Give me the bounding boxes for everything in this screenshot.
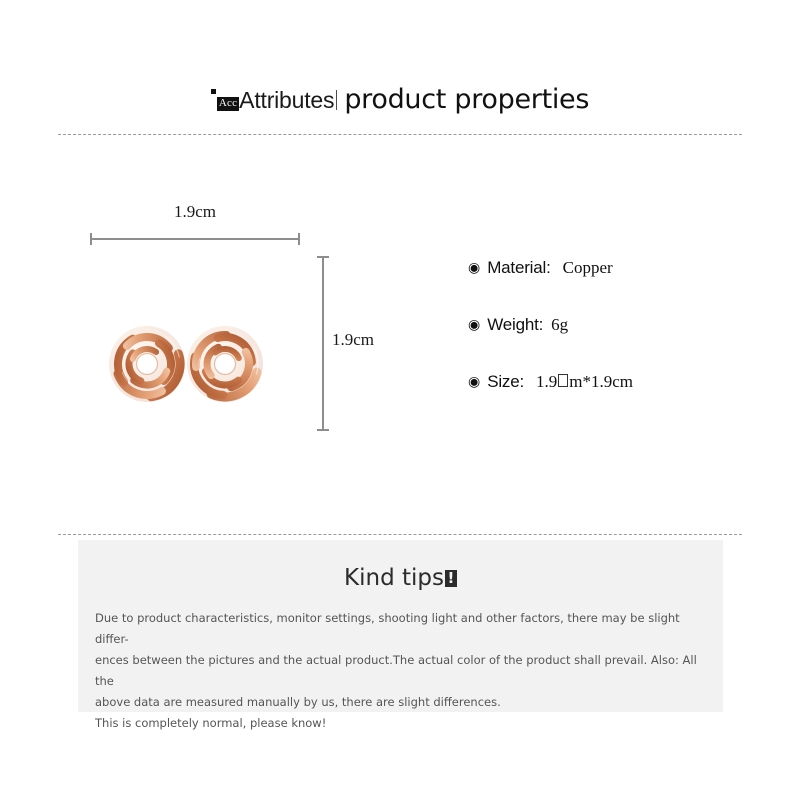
- page-title: product properties: [344, 86, 589, 113]
- dimension-width-label: 1.9cm: [90, 202, 300, 222]
- dimension-width-line: [90, 238, 300, 240]
- spec-label-weight: Weight:: [487, 315, 543, 335]
- dimension-height-line: [322, 256, 324, 431]
- spec-row-size: ◉ Size: 1.9m*1.9cm: [468, 372, 768, 429]
- spec-value-size: 1.9m*1.9cm: [536, 372, 633, 392]
- bullet-icon: ◉: [468, 317, 480, 331]
- product-image-earrings: [103, 308, 271, 420]
- divider-tips: [58, 534, 742, 535]
- page-header: Acc Attributes product properties: [0, 86, 800, 113]
- spec-value-weight: 6g: [551, 315, 568, 335]
- header-attributes-label: Attributes: [239, 89, 334, 112]
- divider-top: [58, 134, 742, 135]
- tips-line-2: ences between the pictures and the actua…: [95, 650, 710, 692]
- tips-line-4: This is completely normal, please know!: [95, 713, 710, 734]
- header-separator: [336, 90, 337, 110]
- header-tick-marker: [211, 89, 216, 94]
- kind-tips-heading-text: Kind tips: [344, 565, 444, 591]
- bullet-icon: ◉: [468, 374, 480, 388]
- kind-tips-heading: Kind tips!: [78, 565, 723, 591]
- spec-row-weight: ◉ Weight: 6g: [468, 315, 768, 372]
- bullet-icon: ◉: [468, 260, 480, 274]
- dimension-height-label: 1.9cm: [332, 330, 374, 350]
- spec-row-material: ◉ Material: Copper: [468, 258, 768, 315]
- kind-tips-panel: Kind tips! Due to product characteristic…: [78, 540, 723, 712]
- spec-value-material: Copper: [563, 258, 613, 278]
- product-properties-page: Acc Attributes product properties 1.9cm …: [0, 0, 800, 800]
- tips-line-3: above data are measured manually by us, …: [95, 692, 710, 713]
- spec-value-size-prefix: 1.9: [536, 372, 557, 391]
- spec-value-size-suffix: m*1.9cm: [569, 372, 633, 391]
- header-badge: Acc: [217, 97, 239, 111]
- spec-label-size: Size:: [487, 372, 524, 392]
- kind-tips-body: Due to product characteristics, monitor …: [95, 608, 710, 734]
- specification-list: ◉ Material: Copper ◉ Weight: 6g ◉ Size: …: [468, 258, 768, 429]
- exclamation-icon: !: [445, 570, 457, 587]
- tips-line-1: Due to product characteristics, monitor …: [95, 608, 710, 650]
- spec-label-material: Material:: [487, 258, 550, 278]
- missing-glyph-icon: [558, 374, 568, 387]
